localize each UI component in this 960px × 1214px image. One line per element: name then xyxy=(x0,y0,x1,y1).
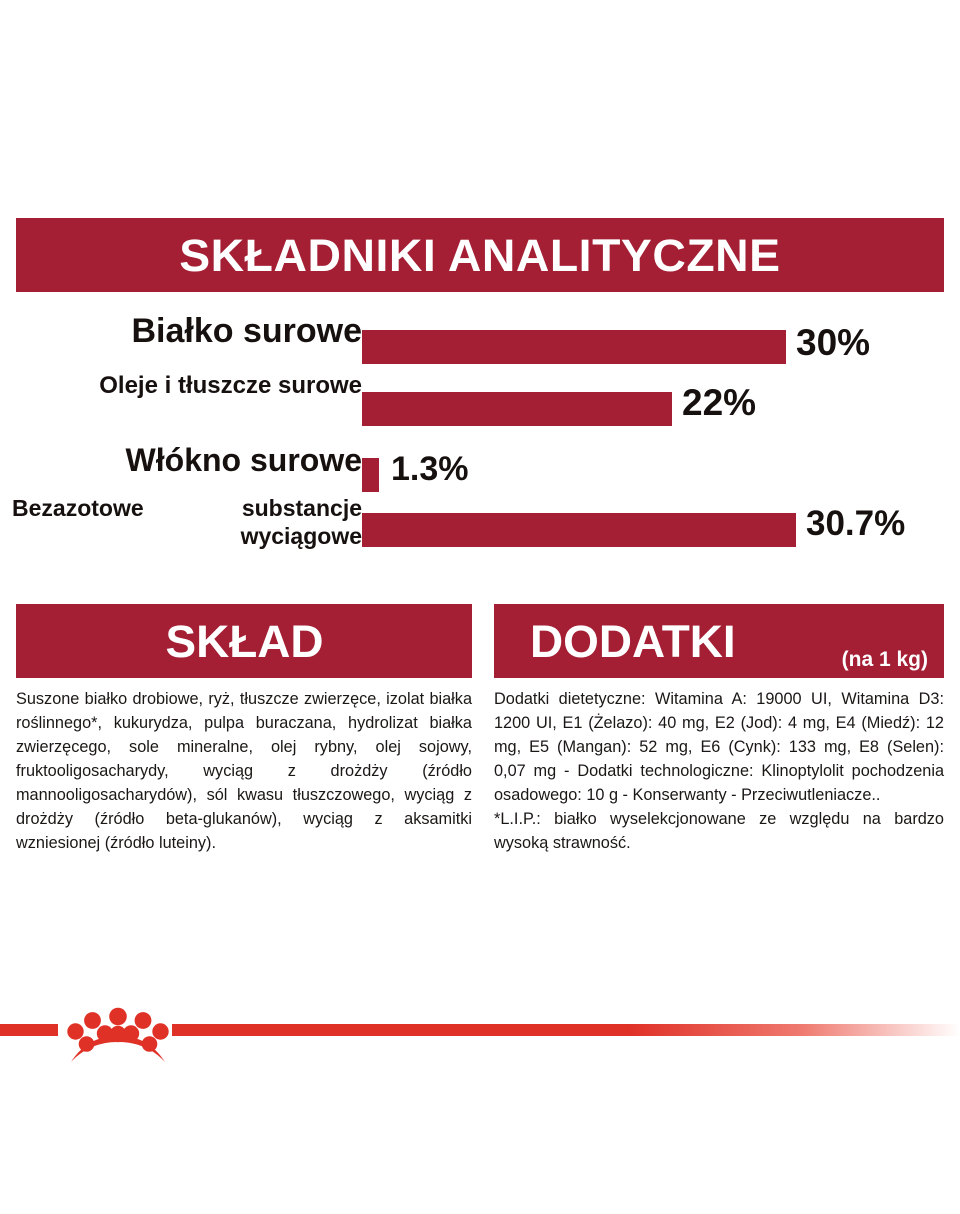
additives-body: Dodatki dietetyczne: Witamina A: 19000 U… xyxy=(494,678,944,856)
additives-per-kg-note: (na 1 kg) xyxy=(842,649,928,670)
chart-row: Białko surowe 30% xyxy=(0,300,960,362)
chart-row-label: Włókno surowe xyxy=(12,444,362,477)
chart-bar xyxy=(362,458,379,492)
additives-footnote: *L.I.P.: białko wyselekcjonowane ze wzgl… xyxy=(494,808,944,856)
analytical-constituents-title: SKŁADNIKI ANALITYCZNE xyxy=(179,233,780,278)
chart-row-label: Bezazotowe substancje wyciągowe xyxy=(12,494,362,550)
additives-panel: DODATKI (na 1 kg) Dodatki dietetyczne: W… xyxy=(494,604,944,856)
footer xyxy=(0,998,960,1068)
additives-title: DODATKI xyxy=(530,619,736,664)
chart-bar-value: 30% xyxy=(796,324,870,361)
chart-row: Włókno surowe 1.3% xyxy=(0,426,960,494)
footer-rule-right xyxy=(172,1024,960,1036)
composition-body: Suszone białko drobiowe, ryż, tłuszcze z… xyxy=(16,678,472,856)
composition-title: SKŁAD xyxy=(165,619,323,664)
chart-row-label: Oleje i tłuszcze surowe xyxy=(12,374,362,399)
composition-banner: SKŁAD xyxy=(16,604,472,678)
chart-row-label-part1: Bezazotowe xyxy=(12,494,144,522)
analytical-constituents-banner: SKŁADNIKI ANALITYCZNE xyxy=(16,218,944,292)
nutrition-label-page: SKŁADNIKI ANALITYCZNE Białko surowe 30% … xyxy=(0,0,960,1214)
chart-bar xyxy=(362,513,796,547)
analytical-constituents-chart: Białko surowe 30% Oleje i tłuszcze surow… xyxy=(0,300,960,570)
chart-row-label: Białko surowe xyxy=(12,314,362,349)
chart-bar-value: 1.3% xyxy=(391,452,469,486)
composition-text: Suszone białko drobiowe, ryż, tłuszcze z… xyxy=(16,688,472,856)
additives-banner: DODATKI (na 1 kg) xyxy=(494,604,944,678)
footer-rule-left xyxy=(0,1024,58,1036)
chart-row: Oleje i tłuszcze surowe 22% xyxy=(0,362,960,426)
chart-row-label-part3: wyciągowe xyxy=(241,523,362,549)
additives-text: Dodatki dietetyczne: Witamina A: 19000 U… xyxy=(494,688,944,808)
chart-row-label-part2: substancje xyxy=(242,495,362,521)
royal-canin-crown-icon xyxy=(62,998,174,1068)
composition-panel: SKŁAD Suszone białko drobiowe, ryż, tłus… xyxy=(16,604,472,856)
chart-bar xyxy=(362,330,786,364)
chart-row: Bezazotowe substancje wyciągowe 30.7% xyxy=(0,494,960,570)
chart-bar-value: 22% xyxy=(682,384,756,421)
chart-bar-value: 30.7% xyxy=(806,506,905,541)
chart-bar xyxy=(362,392,672,426)
